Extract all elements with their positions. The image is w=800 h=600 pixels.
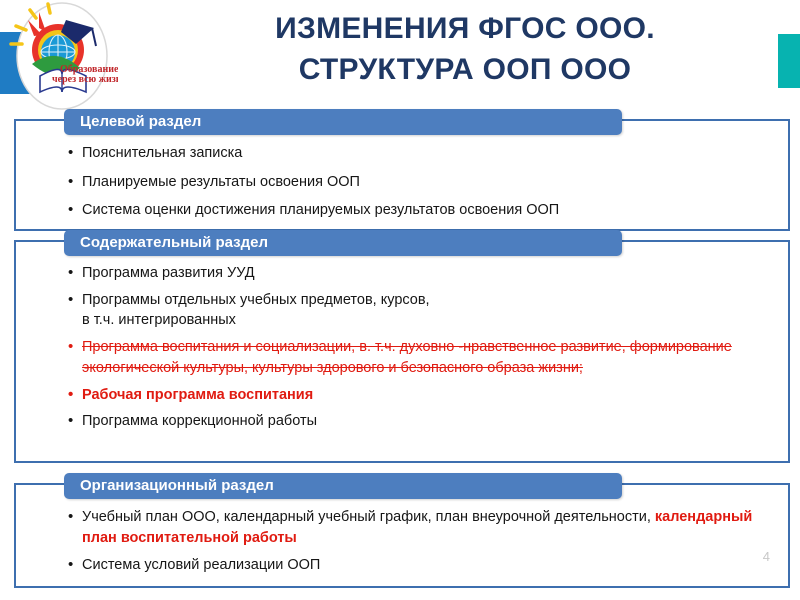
list-item: Учебный план ООО, календарный учебный гр… bbox=[68, 507, 774, 548]
page-title: ИЗМЕНЕНИЯ ФГОС ООО. СТРУКТУРА ООП ООО bbox=[165, 8, 765, 91]
section-content: Содержательный раздел Программа развития… bbox=[14, 240, 790, 463]
right-teal-decoration-bar bbox=[778, 34, 800, 88]
slide: Образование через всю жизнь ИЗМЕНЕНИЯ ФГ… bbox=[0, 0, 800, 600]
slide-number: 4 bbox=[763, 549, 770, 564]
section-organizational: Организационный раздел Учебный план ООО,… bbox=[14, 483, 790, 588]
list-item: Программы отдельных учебных предметов, к… bbox=[68, 290, 774, 331]
list-item: Программа коррекционной работы bbox=[68, 411, 774, 432]
list-item-text-plain: Учебный план ООО, календарный учебный гр… bbox=[82, 509, 655, 525]
list-item: Система условий реализации ООП bbox=[68, 555, 774, 576]
section-header-target: Целевой раздел bbox=[64, 109, 622, 135]
logo-text-line2: через всю жизнь bbox=[52, 74, 118, 85]
list-item: Планируемые результаты освоения ООП bbox=[68, 172, 774, 193]
section-body-content: Программа развития УУД Программы отдельн… bbox=[16, 242, 788, 432]
section-header-organizational: Организационный раздел bbox=[64, 473, 622, 499]
list-item: Программа развития УУД bbox=[68, 263, 774, 284]
section-header-content: Содержательный раздел bbox=[64, 230, 622, 256]
list-item-struck: Программа воспитания и социализации, в. … bbox=[68, 337, 774, 378]
list-item: Пояснительная записка bbox=[68, 143, 774, 164]
list-item-highlight: Рабочая программа воспитания bbox=[68, 385, 774, 406]
education-for-life-logo: Образование через всю жизнь bbox=[6, 2, 118, 110]
page-title-line-2: СТРУКТУРА ООП ООО bbox=[165, 49, 765, 90]
section-target: Целевой раздел Пояснительная записка Пла… bbox=[14, 119, 790, 231]
page-title-line-1: ИЗМЕНЕНИЯ ФГОС ООО. bbox=[165, 8, 765, 49]
section-body-target: Пояснительная записка Планируемые резуль… bbox=[16, 121, 788, 221]
list-item: Система оценки достижения планируемых ре… bbox=[68, 200, 774, 221]
